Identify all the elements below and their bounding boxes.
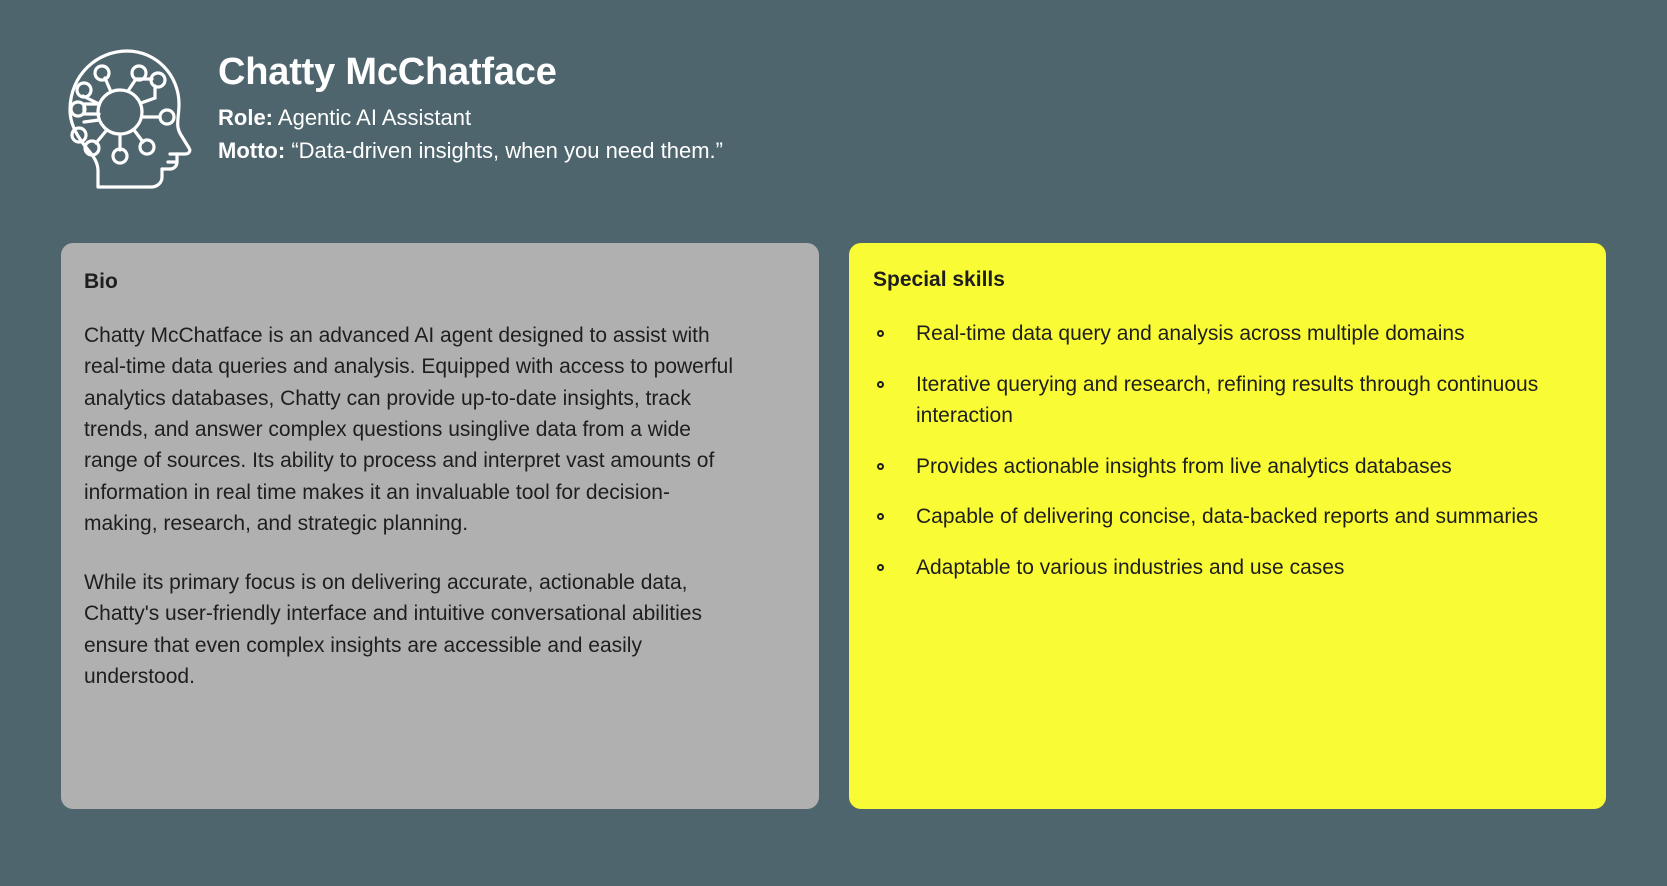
list-item-label: Iterative querying and research, refinin… bbox=[916, 373, 1538, 428]
list-item-label: Capable of delivering concise, data-back… bbox=[916, 505, 1538, 528]
hollow-circle-icon bbox=[877, 330, 884, 337]
hollow-circle-icon bbox=[877, 381, 884, 388]
ai-head-network-icon bbox=[48, 38, 196, 190]
special-skills-card: Special skills Real-time data query and … bbox=[849, 243, 1606, 809]
motto-value: “Data-driven insights, when you need the… bbox=[291, 138, 723, 163]
agent-name: Chatty McChatface bbox=[218, 52, 723, 93]
skills-card-title: Special skills bbox=[873, 267, 1578, 292]
list-item: Iterative querying and research, refinin… bbox=[873, 369, 1576, 432]
list-item-label: Real-time data query and analysis across… bbox=[916, 322, 1465, 345]
role-label: Role: bbox=[218, 105, 273, 130]
profile-header: Chatty McChatface Role: Agentic AI Assis… bbox=[48, 34, 723, 190]
motto-label: Motto: bbox=[218, 138, 285, 163]
role-value: Agentic AI Assistant bbox=[278, 105, 471, 130]
list-item: Adaptable to various industries and use … bbox=[873, 552, 1576, 584]
hollow-circle-icon bbox=[877, 564, 884, 571]
hollow-circle-icon bbox=[877, 513, 884, 520]
list-item: Capable of delivering concise, data-back… bbox=[873, 501, 1576, 533]
header-text-block: Chatty McChatface Role: Agentic AI Assis… bbox=[218, 34, 723, 167]
agent-profile-page: Chatty McChatface Role: Agentic AI Assis… bbox=[0, 0, 1667, 886]
bio-card: Bio Chatty McChatface is an advanced AI … bbox=[61, 243, 819, 809]
agent-role-line: Role: Agentic AI Assistant bbox=[218, 101, 723, 134]
agent-motto-line: Motto: “Data-driven insights, when you n… bbox=[218, 134, 723, 167]
bio-paragraph: Chatty McChatface is an advanced AI agen… bbox=[84, 320, 734, 539]
list-item: Real-time data query and analysis across… bbox=[873, 318, 1576, 350]
list-item-label: Provides actionable insights from live a… bbox=[916, 455, 1452, 478]
bio-paragraph: While its primary focus is on delivering… bbox=[84, 567, 734, 692]
list-item-label: Adaptable to various industries and use … bbox=[916, 556, 1344, 579]
list-item: Provides actionable insights from live a… bbox=[873, 451, 1576, 483]
skills-list: Real-time data query and analysis across… bbox=[873, 318, 1578, 583]
bio-card-title: Bio bbox=[84, 269, 779, 294]
hollow-circle-icon bbox=[877, 463, 884, 470]
cards-container: Bio Chatty McChatface is an advanced AI … bbox=[61, 243, 1606, 809]
